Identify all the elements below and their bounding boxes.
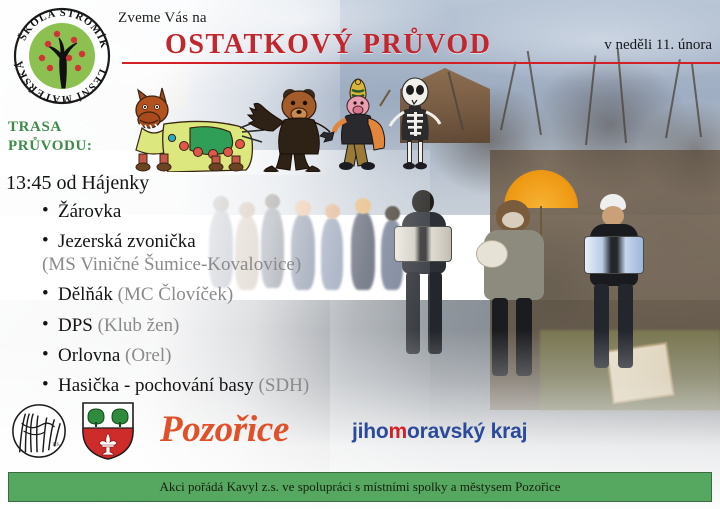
route-block: 13:45 od Hájenky • Žárovka • Jezerská zv… bbox=[6, 172, 406, 406]
route-stop-name: DPS bbox=[58, 315, 93, 336]
horse-costume-figure bbox=[136, 88, 264, 172]
route-stop-name: Orlovna bbox=[58, 345, 120, 366]
route-stop: • Jezerská zvonička (MS Viničné Šumice-K… bbox=[6, 231, 406, 276]
svg-text:z.s.: z.s. bbox=[53, 442, 61, 448]
footer-banner: Akci pořádá Kavyl z.s. ve spolupráci s m… bbox=[8, 472, 712, 502]
invite-text: Zveme Vás na bbox=[118, 10, 207, 27]
pig-mask-costume-figure bbox=[320, 79, 390, 170]
route-stop: • Hasička - pochování basy (SDH) bbox=[6, 375, 406, 397]
route-start-time: 13:45 od Hájenky bbox=[6, 172, 406, 195]
bullet-icon: • bbox=[42, 283, 49, 305]
bullet-icon: • bbox=[42, 230, 49, 252]
page-title: OSTATKOVÝ PRŮVOD bbox=[165, 29, 492, 61]
carnival-cartoon-figures bbox=[112, 62, 442, 172]
mask-face bbox=[502, 212, 524, 228]
route-heading-line1: TRASA bbox=[8, 118, 93, 137]
route-stop-list: • Žárovka • Jezerská zvonička (MS Viničn… bbox=[6, 201, 406, 398]
carried-drum bbox=[476, 240, 508, 268]
footer-text: Akci pořádá Kavyl z.s. ve spolupráci s m… bbox=[9, 473, 711, 501]
route-stop-org: (Klub žen) bbox=[98, 315, 180, 336]
route-stop-name: Dělňák bbox=[58, 284, 113, 305]
event-date: v neděli 11. února bbox=[604, 37, 712, 54]
route-stop: • DPS (Klub žen) bbox=[6, 315, 406, 337]
kavyl-logo: z.s. bbox=[10, 402, 68, 460]
route-stop-org: (Orel) bbox=[125, 345, 171, 366]
pozorice-coat-of-arms bbox=[80, 400, 136, 462]
route-stop-org: (MS Viničné Šumice-Kovalovice) bbox=[42, 254, 406, 276]
bullet-icon: • bbox=[42, 200, 49, 222]
bullet-icon: • bbox=[42, 314, 49, 336]
jmk-text-part1: jiho bbox=[352, 420, 389, 443]
route-heading: TRASA PRŮVODU: bbox=[8, 118, 93, 156]
accordion-instrument bbox=[584, 236, 644, 274]
skeleton-costume-figure bbox=[390, 78, 440, 169]
route-stop: • Dělňák (MC Človíček) bbox=[6, 284, 406, 306]
jihomoravsky-kraj-logo: jihomoravský kraj bbox=[352, 420, 527, 444]
marcher-head bbox=[602, 206, 624, 226]
jmk-text-part2: oravský kraj bbox=[407, 420, 527, 443]
stromik-logo: ŠKOLA STROMÍK LESNÍ MATEŘSKÁ bbox=[12, 6, 112, 106]
route-stop: • Orlovna (Orel) bbox=[6, 345, 406, 367]
route-stop-org: (MC Človíček) bbox=[118, 284, 234, 305]
bullet-icon: • bbox=[42, 374, 49, 396]
poster: ŠKOLA STROMÍK LESNÍ MATEŘSKÁ Zveme Vás n… bbox=[0, 0, 720, 509]
route-stop-org: (SDH) bbox=[259, 375, 310, 396]
pozorice-wordmark: Pozořice bbox=[160, 408, 289, 451]
route-stop-name: Hasička - pochování basy bbox=[58, 375, 254, 396]
route-stop-name: Jezerská zvonička bbox=[58, 231, 196, 252]
route-stop-name: Žárovka bbox=[58, 201, 121, 222]
title-divider bbox=[122, 62, 720, 64]
route-heading-line2: PRŮVODU: bbox=[8, 137, 93, 156]
route-stop: • Žárovka bbox=[6, 201, 406, 223]
bullet-icon: • bbox=[42, 344, 49, 366]
jmk-accent-letter: m bbox=[389, 420, 407, 443]
